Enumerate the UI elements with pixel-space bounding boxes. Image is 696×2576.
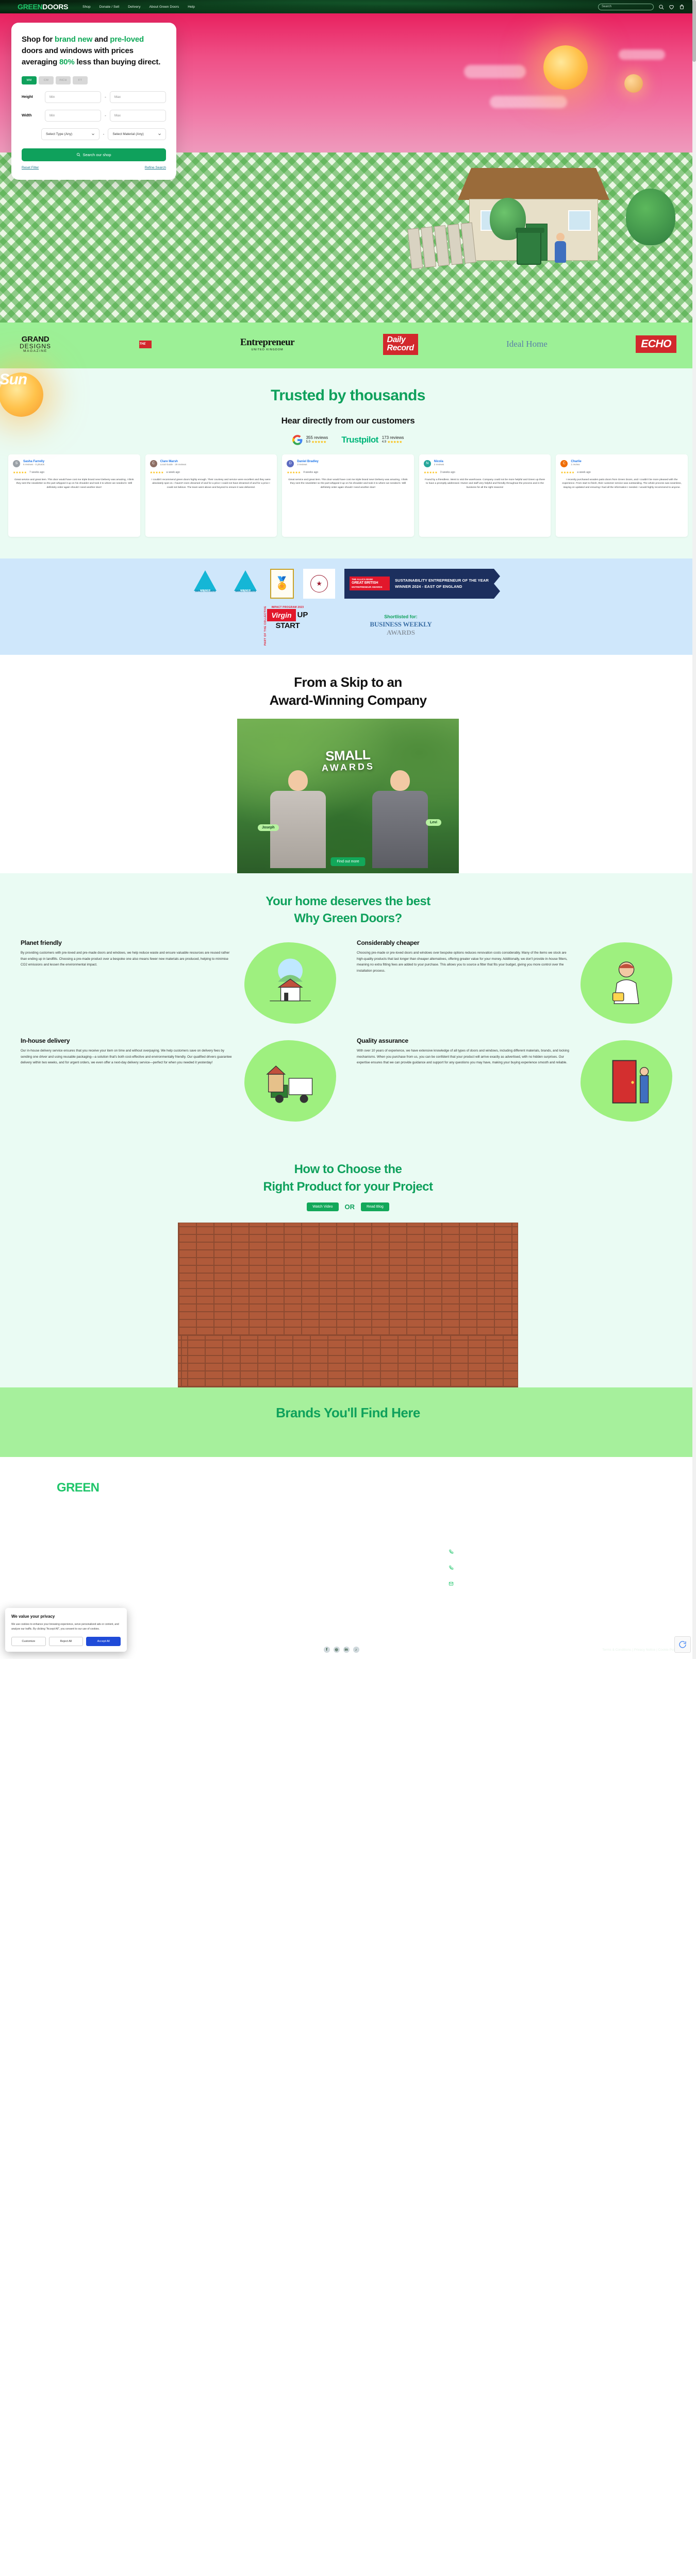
review-body: I couldn't recommend green doors highly …	[150, 478, 273, 490]
avatar: D	[287, 460, 294, 467]
reviewer-meta: 5 reviews · 0 photos	[23, 463, 44, 466]
google-score: 5.0	[306, 440, 310, 444]
tree-decoration	[626, 189, 675, 245]
nav-item-donate-sell[interactable]: Donate / Sell	[100, 5, 120, 9]
cloud-decoration	[490, 96, 567, 108]
reset-filter-link[interactable]: Reset Filter	[22, 166, 39, 170]
chevron-down-icon	[158, 132, 161, 136]
review-age: a week ago	[167, 471, 180, 474]
green-bin-illustration	[517, 231, 541, 265]
watch-video-button[interactable]: Watch Video	[307, 1202, 338, 1211]
footer-phone-1[interactable]: 01582 34 35 34	[449, 1549, 644, 1555]
trustpilot-brand: Trustpilot	[341, 435, 378, 445]
brands-heading: Brands You'll Find Here	[0, 1405, 696, 1421]
footer-link-bifold-doors[interactable]: Bi-fold Doors	[57, 1549, 253, 1554]
nav-item-help[interactable]: Help	[188, 5, 195, 9]
avatar: N	[424, 460, 431, 467]
virgin-startup-badge: PART OF THE COLLECTIVE IMPACT PROGRAM 20…	[264, 606, 308, 646]
footer-column-contact: Contact 01582 34 35 34 075 7000 2000 sal…	[449, 1524, 644, 1621]
height-filter-row: Height Min - Max	[22, 91, 166, 103]
cloud-decoration	[464, 65, 526, 78]
reviewer-name: Sasha Farrelly	[23, 460, 44, 463]
instagram-icon[interactable]: ◎	[334, 1647, 340, 1653]
facebook-icon[interactable]: f	[324, 1647, 330, 1653]
press-logo-daily-record: Daily Record	[383, 334, 418, 355]
trustpilot-review-count: 173 reviews	[382, 435, 404, 440]
press-logo-ideal-home: Ideal Home	[506, 339, 548, 349]
trustpilot-stars: ★★★★★	[387, 440, 402, 444]
material-select[interactable]: Select Material (Any)	[108, 128, 166, 140]
cookie-buttons: Customize Reject All Accept All	[11, 1637, 121, 1646]
unit-option-ft[interactable]: FT	[73, 76, 88, 84]
width-max-input[interactable]: Max	[110, 110, 166, 122]
unit-toggle-group: MM CM INCH FT	[22, 76, 166, 84]
cookie-customize-button[interactable]: Customize	[11, 1637, 46, 1646]
top-navigation: GREENDOORS Shop Donate / Sell Delivery A…	[0, 0, 696, 13]
footer-link-returns[interactable]: Returns	[253, 1578, 449, 1583]
review-stars: ★★★★★	[424, 471, 438, 474]
feature-grid: Planet friendly By providing customers w…	[0, 927, 696, 1125]
avatar: C	[560, 460, 568, 467]
height-max-input[interactable]: Max	[110, 91, 166, 103]
height-min-input[interactable]: Min	[45, 91, 101, 103]
bag-icon[interactable]	[679, 4, 685, 10]
cookie-body: We use cookies to enhance your browsing …	[11, 1622, 121, 1632]
why-section: Your home deserves the best Why Green Do…	[0, 873, 696, 1145]
brands-section: Brands You'll Find Here	[0, 1387, 696, 1457]
how-to-choose-section: How to Choose the Right Product for your…	[0, 1145, 696, 1387]
review-age: 3 weeks ago	[440, 471, 455, 474]
cookie-title: We value your privacy	[11, 1614, 121, 1619]
reviewer-name: Nicola	[434, 460, 444, 463]
width-min-input[interactable]: Min	[45, 110, 101, 122]
cookie-consent-banner: We value your privacy We use cookies to …	[5, 1608, 127, 1652]
allica-bank-award-ribbon: THE ALLICA BANK GREAT BRITISH ENTREPRENE…	[344, 569, 506, 599]
logo-green-text: GREEN	[18, 3, 42, 11]
nav-item-about[interactable]: About Green Doors	[150, 5, 179, 9]
review-stars: ★★★★★	[287, 471, 301, 474]
seal-icon: ★	[310, 575, 328, 592]
nav-links: Shop Donate / Sell Delivery About Green …	[82, 5, 195, 9]
cookie-accept-button[interactable]: Accept All	[86, 1637, 121, 1646]
scrollbar-thumb[interactable]	[692, 0, 696, 62]
search-icon[interactable]	[658, 4, 664, 10]
review-body: Found by a friendless. Went to visit the…	[424, 478, 546, 490]
review-body: Great service and great item. This door …	[13, 478, 136, 490]
feature-body: Our in-house delivery service ensures th…	[21, 1048, 234, 1066]
cookie-reject-button[interactable]: Reject All	[49, 1637, 84, 1646]
review-stars: ★★★★★	[13, 471, 27, 474]
review-age: 7 weeks ago	[29, 471, 44, 474]
story-heading: From a Skip to an Award-Winning Company	[0, 673, 696, 709]
nav-search-input[interactable]: Search	[598, 4, 654, 10]
review-card: N Nicola 2 reviews ★★★★★3 weeks ago Foun…	[419, 454, 551, 537]
phone-icon	[449, 1549, 454, 1555]
search-shop-button[interactable]: Search our shop	[22, 148, 166, 161]
review-card: D Daniel Bradley 3 reviews ★★★★★4 weeks …	[282, 454, 414, 537]
feature-title: Quality assurance	[357, 1037, 570, 1044]
height-label: Height	[22, 95, 41, 99]
mail-icon	[449, 1581, 454, 1587]
ribbon-icon: 🏅	[274, 576, 290, 591]
brick-wall-video[interactable]	[178, 1223, 518, 1336]
recaptcha-badge[interactable]	[674, 1636, 691, 1653]
google-stars: ★★★★★	[311, 440, 326, 444]
founders-photo: SMALL AWARDS Joseph Levi Find out more	[237, 719, 459, 873]
google-rating[interactable]: 355 reviews 5.0★★★★★	[292, 435, 328, 445]
reviewer-meta: 2 reviews	[434, 463, 444, 466]
avatar: C	[150, 460, 157, 467]
sun-decoration	[543, 45, 588, 90]
review-age: a week ago	[577, 471, 591, 474]
awards-band: WINNER SMALL AWARDS WINNER SMALL AWARDS …	[0, 558, 696, 655]
site-logo[interactable]: GREENDOORS	[18, 3, 68, 11]
filter-links: Reset Filter Refine Search	[22, 166, 166, 170]
press-logo-grand-designs: GRAND DESIGNS MAGAZINE	[20, 335, 51, 353]
choose-heading: How to Choose the Right Product for your…	[0, 1161, 696, 1195]
ratings-row: 355 reviews 5.0★★★★★ Trustpilot 173 revi…	[0, 435, 696, 445]
avatar: S	[13, 460, 20, 467]
unit-option-inch[interactable]: INCH	[56, 76, 71, 84]
awards-row-primary: WINNER SMALL AWARDS WINNER SMALL AWARDS …	[0, 569, 696, 599]
gold-certificate-badge: 🏅	[270, 569, 294, 599]
feature-body: Choosing pre-made or pre-loved doors and…	[357, 950, 570, 974]
footer-link-windows[interactable]: Windows	[57, 1564, 253, 1568]
feature-card-quality-assurance: Quality assurance With over 10 years of …	[357, 1037, 675, 1125]
feature-body: With over 10 years of experience, we hav…	[357, 1048, 570, 1066]
reviewer-name: Daniel Bradley	[297, 460, 319, 463]
small-awards-badge: WINNER SMALL AWARDS	[230, 570, 261, 597]
footer-link-front-doors[interactable]: Front Doors	[57, 1592, 253, 1597]
house-savings-icon	[241, 939, 339, 1027]
social-links: f ◎ in ♪	[324, 1647, 359, 1653]
divider	[253, 1537, 345, 1538]
linkedin-icon[interactable]: in	[343, 1647, 350, 1653]
footer-column-shop: Shop Bi-fold Doors Windows Back Doors Fr…	[57, 1524, 253, 1621]
select-filter-row: Select Type (Any) - Select Material (Any…	[41, 128, 166, 140]
range-dash: -	[105, 113, 106, 118]
nav-item-delivery[interactable]: Delivery	[128, 5, 140, 9]
search-icon	[76, 152, 80, 158]
nav-search-placeholder: Search	[602, 5, 611, 8]
small-awards-badge: WINNER SMALL AWARDS	[190, 570, 221, 597]
reviewer-name: Charlie	[571, 460, 581, 463]
trusted-section: Trusted by thousands Hear directly from …	[0, 368, 696, 558]
material-select-value: Select Material (Any)	[112, 132, 143, 136]
site-footer: GREENDOORS We don't cost the earth! Shop…	[0, 1457, 696, 1659]
press-logos-band: GRAND DESIGNS MAGAZINE THE Sun Entrepren…	[0, 323, 696, 368]
phone-icon	[449, 1565, 454, 1571]
trustpilot-score: 4.9	[382, 440, 386, 444]
hero-percent: 80%	[59, 58, 74, 66]
footer-legal-links: Terms & Conditions | Privacy Notice | Co…	[602, 1648, 678, 1652]
choose-buttons: Watch Video OR Read Blog	[0, 1202, 696, 1211]
search-shop-label: Search our shop	[82, 152, 111, 157]
feature-title: In-house delivery	[21, 1037, 234, 1044]
unit-option-mm[interactable]: MM	[22, 76, 37, 84]
footer-link-delivery[interactable]: Delivery	[253, 1592, 449, 1597]
hero-preloved: pre-loved	[110, 35, 144, 44]
read-blog-button[interactable]: Read Blog	[361, 1202, 389, 1211]
tiktok-icon[interactable]: ♪	[353, 1647, 359, 1653]
hero-section: Shop for brand new and pre-loved doors a…	[0, 13, 696, 323]
awards-row-secondary: PART OF THE COLLECTIVE IMPACT PROGRAM 20…	[0, 599, 696, 646]
refine-search-link[interactable]: Refine Search	[145, 166, 166, 170]
divider	[57, 1537, 150, 1538]
review-age: 4 weeks ago	[303, 471, 318, 474]
hero-brand-new: brand new	[55, 35, 92, 44]
footer-column-title: Shop	[57, 1524, 253, 1530]
press-logo-echo: ECHO	[636, 335, 676, 353]
heart-icon[interactable]	[669, 4, 674, 10]
feature-card-planet-friendly: Planet friendly By providing customers w…	[21, 939, 339, 1027]
door-stack-illustration	[407, 223, 476, 269]
nav-item-shop[interactable]: Shop	[82, 5, 91, 9]
story-section: From a Skip to an Award-Winning Company …	[0, 655, 696, 873]
reviewer-meta: 3 reviews	[297, 463, 319, 466]
person-illustration	[555, 233, 566, 265]
or-separator: OR	[345, 1203, 355, 1211]
footer-tagline: We don't cost the earth!	[57, 1496, 696, 1501]
allica-bank-logo: THE ALLICA BANK GREAT BRITISH ENTREPRENE…	[350, 577, 390, 590]
divider	[449, 1537, 541, 1538]
person-savings-icon	[577, 939, 675, 1027]
founder-left-name-tag: Joseph	[258, 824, 279, 831]
footer-column-general: General About Us Contact Us Returns Deli…	[253, 1524, 449, 1621]
privacy-link[interactable]: Privacy Notice	[634, 1648, 656, 1652]
hero-search-card: Shop for brand new and pre-loved doors a…	[11, 23, 176, 180]
review-stars: ★★★★★	[150, 471, 164, 474]
range-dash: -	[105, 95, 106, 99]
founder-right	[369, 770, 431, 873]
google-icon	[292, 435, 303, 445]
page-scrollbar[interactable]	[692, 0, 696, 1659]
footer-link-back-doors[interactable]: Back Doors	[57, 1578, 253, 1583]
terms-link[interactable]: Terms & Conditions	[602, 1648, 631, 1652]
review-cards-grid: S Sasha Farrelly 5 reviews · 0 photos ★★…	[0, 445, 696, 554]
page-root: GREENDOORS Shop Donate / Sell Delivery A…	[0, 0, 696, 1659]
founder-left	[267, 770, 329, 873]
review-stars: ★★★★★	[560, 471, 574, 474]
footer-column-title: Contact	[449, 1524, 644, 1530]
review-body: I recently purchased wooden patio doors …	[560, 478, 683, 490]
footer-link-contact-us[interactable]: Contact Us	[253, 1564, 449, 1568]
find-out-more-button[interactable]: Find out more	[330, 857, 365, 866]
footer-email[interactable]: sales@greendoors.co.uk	[449, 1581, 644, 1587]
feature-title: Considerably cheaper	[357, 939, 570, 946]
reviewer-meta: 1 review	[571, 463, 581, 466]
feature-card-in-house-delivery: In-house delivery Our in-house delivery …	[21, 1037, 339, 1125]
cloud-decoration	[619, 49, 665, 60]
range-dash: -	[103, 132, 105, 137]
feature-title: Planet friendly	[21, 939, 234, 946]
feature-card-considerably-cheaper: Considerably cheaper Choosing pre-made o…	[357, 939, 675, 1027]
review-card: C Clare Marsh Local Guide · 29 reviews ★…	[145, 454, 277, 537]
moon-decoration	[624, 74, 643, 93]
review-body: Great service and great item. This door …	[287, 478, 409, 490]
width-label: Width	[22, 114, 41, 117]
founder-right-name-tag: Levi	[426, 819, 441, 826]
hero-headline: Shop for brand new and pre-loved doors a…	[22, 34, 166, 67]
width-filter-row: Width Min - Max	[22, 110, 166, 122]
footer-columns: Shop Bi-fold Doors Windows Back Doors Fr…	[0, 1501, 696, 1621]
trusted-subheading: Hear directly from our customers	[0, 416, 696, 426]
red-door-icon	[577, 1037, 675, 1125]
trusted-heading: Trusted by thousands	[0, 387, 696, 404]
trustpilot-rating[interactable]: Trustpilot 173 reviews 4.9★★★★★	[341, 435, 404, 445]
circle-certificate-badge: ★	[303, 569, 335, 599]
chevron-down-icon	[91, 132, 95, 136]
footer-link-about-us[interactable]: About Us	[253, 1549, 449, 1554]
footer-logo[interactable]: GREENDOORS We don't cost the earth!	[0, 1481, 696, 1501]
review-card: C Charlie 1 review ★★★★★a week ago I rec…	[556, 454, 688, 537]
footer-column-title: General	[253, 1524, 449, 1530]
feature-body: By providing customers with pre-loved an…	[21, 950, 234, 968]
type-select-value: Select Type (Any)	[46, 132, 72, 136]
press-logo-the-sun: THE Sun	[139, 341, 152, 348]
footer-phone-2[interactable]: 075 7000 2000	[449, 1565, 644, 1571]
press-logo-entrepreneur: Entrepreneur UNITED KINGDOM	[240, 337, 294, 351]
type-select[interactable]: Select Type (Any)	[41, 128, 100, 140]
google-review-count: 355 reviews	[306, 435, 328, 440]
brick-wall-video-lower[interactable]	[178, 1336, 518, 1387]
ribbon-text-line2: WINNER 2024 - EAST OF ENGLAND	[395, 584, 489, 590]
business-weekly-award: Shortlisted for: BUSINESS WEEKLY AWARDS	[370, 614, 432, 637]
logo-doors-text: DOORS	[42, 3, 68, 11]
award-sign: SMALL AWARDS	[321, 748, 375, 773]
reviewer-meta: Local Guide · 29 reviews	[160, 463, 187, 466]
nav-right-cluster: Search	[598, 4, 685, 10]
delivery-van-icon	[241, 1037, 339, 1125]
ribbon-text-line1: SUSTAINABILITY ENTREPRENEUR OF THE YEAR	[395, 578, 489, 584]
why-heading: Your home deserves the best Why Green Do…	[0, 893, 696, 927]
review-card: S Sasha Farrelly 5 reviews · 0 photos ★★…	[8, 454, 140, 537]
unit-option-cm[interactable]: CM	[39, 76, 54, 84]
